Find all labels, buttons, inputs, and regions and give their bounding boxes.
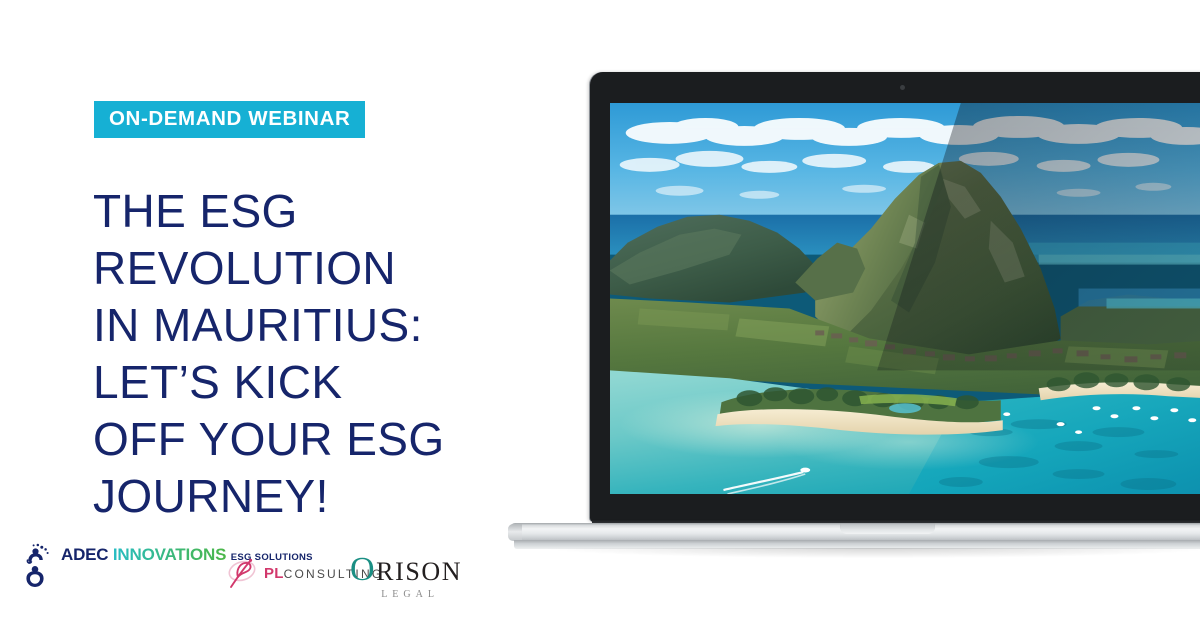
laptop-mockup	[508, 72, 1200, 562]
headline-line-1: THE ESG	[93, 183, 513, 240]
laptop-base	[508, 519, 1200, 549]
headline-line-4: LET’S KICK	[93, 354, 513, 411]
headline-line-3: IN MAURITIUS:	[93, 297, 513, 354]
eyebrow-badge: ON-DEMAND WEBINAR	[94, 101, 365, 138]
adec-name: ADEC	[61, 545, 108, 564]
webinar-promo-banner: ON-DEMAND WEBINAR THE ESG REVOLUTION IN …	[0, 0, 1200, 628]
screen-photo-mauritius	[610, 103, 1200, 494]
laptop-screen	[610, 103, 1200, 494]
left-content-column: ON-DEMAND WEBINAR THE ESG REVOLUTION IN …	[0, 0, 520, 628]
adec-name-line: ADEC INNOVATIONS	[61, 545, 231, 564]
headline-line-6: JOURNEY!	[93, 468, 513, 525]
logo-orison-legal: ORISON LEGAL	[350, 553, 462, 600]
page-title: THE ESG REVOLUTION IN MAURITIUS: LET’S K…	[93, 183, 513, 525]
webcam-icon	[900, 85, 905, 90]
orison-subtitle: LEGAL	[350, 589, 462, 600]
pl-name-bold: PL	[264, 565, 284, 582]
adec-person-mark-icon	[24, 542, 54, 588]
adec-name-accent: INNOVATIONS	[113, 545, 226, 564]
orison-name-rest: RISON	[376, 557, 462, 586]
orison-initial: O	[350, 551, 376, 588]
laptop-lid	[590, 72, 1200, 522]
headline-line-5: OFF YOUR ESG	[93, 411, 513, 468]
laptop-front-notch	[840, 523, 935, 534]
eyebrow-label: ON-DEMAND WEBINAR	[109, 109, 350, 130]
laptop-drop-shadow	[548, 548, 1200, 558]
pl-script-monogram-icon	[222, 556, 262, 590]
headline-line-2: REVOLUTION	[93, 240, 513, 297]
orison-wordmark: ORISON	[350, 553, 462, 587]
